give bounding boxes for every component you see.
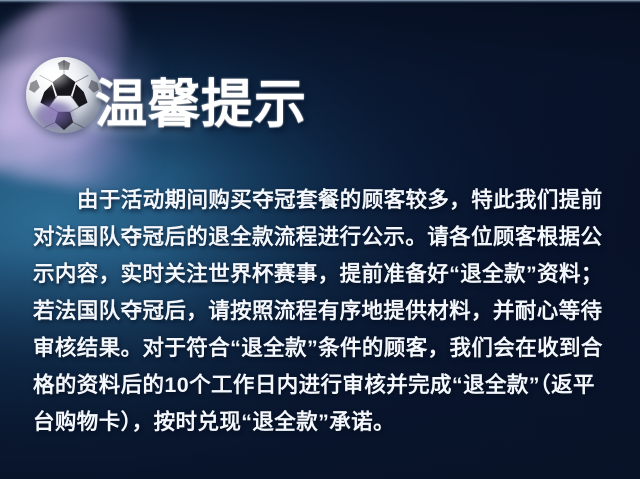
notice-line: 台购物卡），按时兑现“退全款”承诺。	[33, 404, 613, 441]
notice-line: 对法国队夺冠后的退全款流程进行公示。请各位顾客根据公	[33, 219, 613, 256]
top-edge-highlight	[0, 0, 640, 3]
promo-poster: 温馨提示 由于活动期间购买夺冠套餐的顾客较多，特此我们提前 对法国队夺冠后的退全…	[0, 0, 640, 479]
notice-line: 格的资料后的10个工作日内进行审核并完成“退全款”（返平	[33, 367, 613, 404]
notice-line: 审核结果。对于符合“退全款”条件的顾客，我们会在收到合	[33, 330, 613, 367]
soccer-ball-violet-reflection	[35, 101, 75, 130]
soccer-ball-highlight	[38, 65, 71, 89]
notice-line: 由于活动期间购买夺冠套餐的顾客较多，特此我们提前	[33, 182, 613, 219]
notice-line: 若法国队夺冠后，请按照流程有序地提供材料，并耐心等待	[33, 293, 613, 330]
notice-body: 由于活动期间购买夺冠套餐的顾客较多，特此我们提前 对法国队夺冠后的退全款流程进行…	[33, 182, 613, 441]
soccer-ball-icon	[26, 57, 102, 133]
notice-line: 示内容，实时关注世界杯赛事，提前准备好“退全款”资料；	[33, 256, 613, 293]
page-title: 温馨提示	[95, 76, 307, 134]
soccer-ball-body	[26, 57, 102, 133]
